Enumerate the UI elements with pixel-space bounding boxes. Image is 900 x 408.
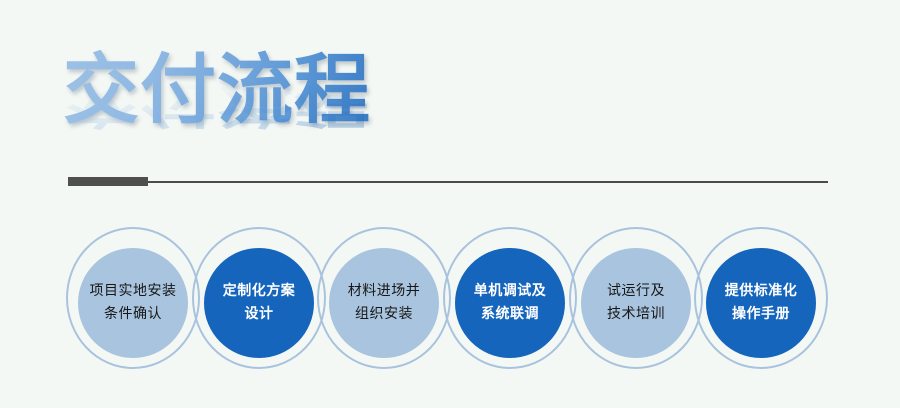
page-title: 交付流程 — [63, 50, 483, 130]
step-circle-2[interactable]: 定制化方案 设计 — [204, 248, 314, 358]
step-circle-1[interactable]: 项目实地安装 条件确认 — [78, 248, 188, 358]
step-circle-6[interactable]: 提供标准化 操作手册 — [706, 248, 816, 358]
step-label-line2: 技术培训 — [607, 303, 665, 326]
process-step-6[interactable]: 提供标准化 操作手册 — [688, 224, 838, 374]
step-label-line1: 项目实地安装 — [90, 280, 177, 303]
step-label-line2: 组织安装 — [355, 303, 413, 326]
divider-accent-bar — [68, 177, 148, 186]
step-label-line2: 操作手册 — [732, 303, 790, 326]
section-divider — [68, 176, 828, 186]
step-circle-3[interactable]: 材料进场并 组织安装 — [329, 248, 439, 358]
step-label-line1: 单机调试及 — [474, 280, 547, 303]
page-title-block: 交付流程 交付流程 — [63, 50, 483, 180]
step-label-line1: 提供标准化 — [725, 280, 798, 303]
step-label-line2: 系统联调 — [481, 303, 539, 326]
step-label-line1: 试运行及 — [607, 280, 665, 303]
step-label-line2: 条件确认 — [104, 303, 162, 326]
step-label-line1: 材料进场并 — [348, 280, 421, 303]
step-circle-5[interactable]: 试运行及 技术培训 — [581, 248, 691, 358]
process-steps: 项目实地安装 条件确认 定制化方案 设计 材料进场并 组织安装 单机调试及 系统… — [0, 224, 900, 374]
step-label-line2: 设计 — [245, 303, 274, 326]
slide-canvas: 交付流程 交付流程 项目实地安装 条件确认 定制化方案 设计 材料进场并 组织安 — [0, 0, 900, 408]
step-label-line1: 定制化方案 — [223, 280, 296, 303]
divider-line — [68, 181, 828, 183]
step-circle-4[interactable]: 单机调试及 系统联调 — [455, 248, 565, 358]
